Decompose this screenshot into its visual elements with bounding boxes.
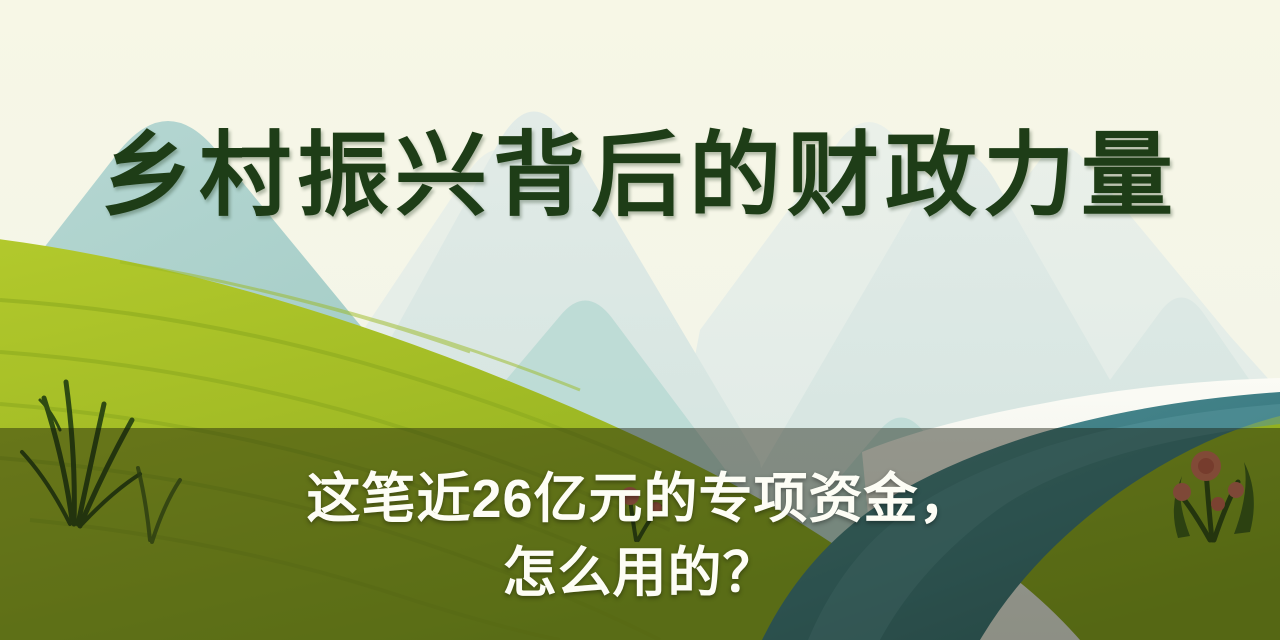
subtitle-line-1: 这笔近26亿元的专项资金， — [0, 462, 1280, 536]
page-title: 乡村振兴背后的财政力量 — [0, 124, 1280, 228]
poster-canvas: 乡村振兴背后的财政力量 这笔近26亿元的专项资金， 怎么用的？ — [0, 0, 1280, 640]
subtitle-line-2: 怎么用的？ — [0, 536, 1280, 610]
subtitle-caption: 这笔近26亿元的专项资金， 怎么用的？ — [0, 462, 1280, 610]
